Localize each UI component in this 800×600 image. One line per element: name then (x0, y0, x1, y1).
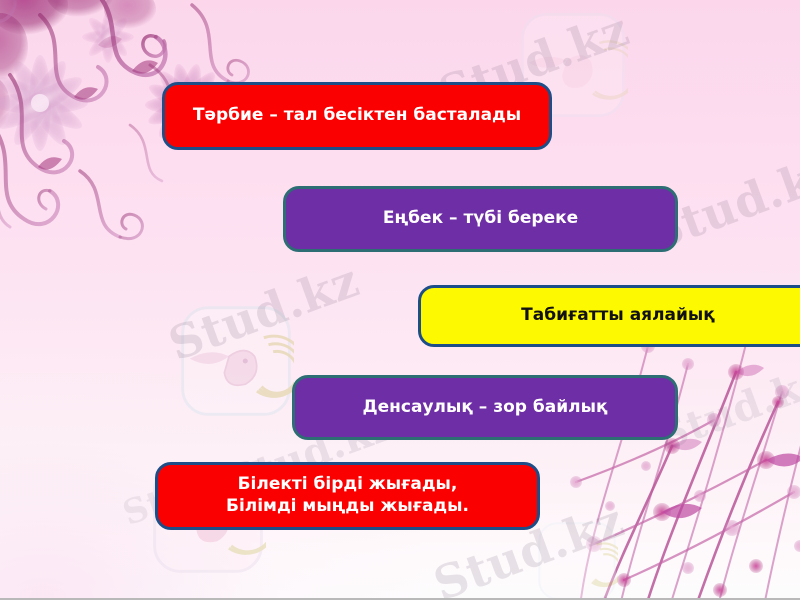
callout-box-5-label: Білекті бірді жығады, Білімді мыңды жыға… (226, 474, 469, 518)
callout-box-4-label: Денсаулық – зор байлық (362, 397, 607, 419)
callout-box-1-label: Тәрбие – тал бесіктен басталады (193, 105, 521, 127)
slide-canvas: Stud.kz Stud.kz Stud.kz Stud.kz Stud.kz … (0, 0, 800, 600)
callout-box-1[interactable]: Тәрбие – тал бесіктен басталады (162, 82, 552, 150)
floral-ornament-bottom-right (550, 306, 800, 600)
callout-box-4[interactable]: Денсаулық – зор байлық (292, 375, 678, 440)
callout-box-3-label: Табиғатты аялайық (521, 305, 715, 327)
callout-box-5[interactable]: Білекті бірді жығады, Білімді мыңды жыға… (155, 462, 540, 530)
floral-ornament-top-left (0, 0, 310, 305)
callout-box-3[interactable]: Табиғатты аялайық (418, 285, 800, 347)
callout-box-2[interactable]: Еңбек – түбі береке (283, 186, 678, 252)
callout-box-2-label: Еңбек – түбі береке (383, 208, 578, 230)
hummingbird-logo-watermark (178, 303, 294, 419)
watermark-text: Stud.kz (162, 253, 366, 371)
hummingbird-logo-watermark (536, 520, 618, 600)
